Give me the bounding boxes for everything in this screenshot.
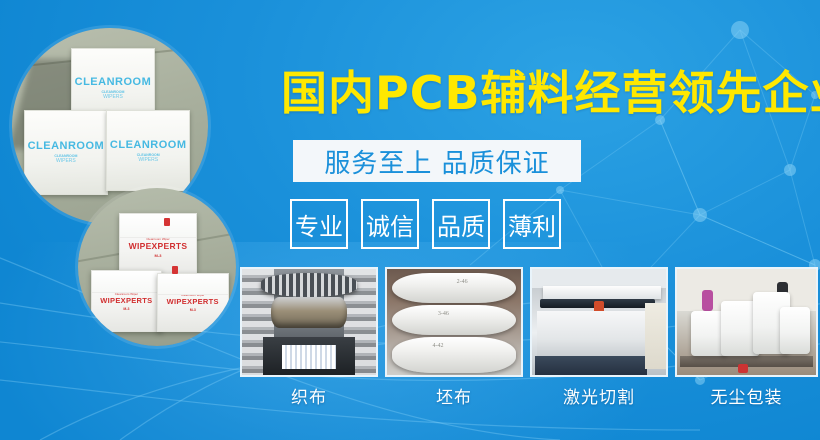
thumbnail-image-laser-cutter [530,267,668,377]
keyword-label: 品质 [437,207,485,242]
box-model-mark: M-3 [155,253,162,258]
cleanroom-pack: CLEANROOM CLEANROOM WIPERS [106,110,190,190]
thumbnail-caption: 织布 [291,383,327,408]
pack-title: CLEANROOM [110,139,187,151]
thumbnail-caption: 坯布 [436,383,472,408]
keyword-badge-zhuanye[interactable]: 专业 [290,199,348,249]
banner-headline: 国内PCB辅料经营领先企业 [281,70,820,116]
box-model-mark: M-3 [123,307,129,311]
thumbnail-image-knitting-machine [240,267,378,377]
box-brand-title: WIPEXPERTS [167,297,219,306]
product-photo-wipexperts-boxes: Cleanroom Wiper WIPEXPERTS M-3 Cleanroom… [78,188,236,346]
cleanroom-pack: CLEANROOM CLEANROOM WIPERS [24,110,108,194]
keyword-label: 专业 [295,207,343,242]
keyword-badge-baoli[interactable]: 薄利 [503,199,561,249]
pack-wipers-label: WIPERS [103,94,123,100]
pack-title: CLEANROOM [28,140,105,152]
process-thumbnail-strip: 织布 2-46 3-46 4-42 坯布 激光切割 [240,267,820,412]
box-ribbon [120,214,196,238]
thumbnail-caption: 无尘包装 [711,383,783,408]
box-ribbon [158,274,228,294]
keyword-badge-row: 专业 诚信 品质 薄利 [290,199,561,249]
thumbnail-item-greige-fabric[interactable]: 2-46 3-46 4-42 坯布 [385,267,523,412]
thumbnail-image-fabric-rolls: 2-46 3-46 4-42 [385,267,523,377]
banner-subtitle: 服务至上 品质保证 [324,143,549,180]
red-stamp-icon [172,266,178,274]
thumbnail-item-cleanroom-packaging[interactable]: 无尘包装 [675,267,818,412]
keyword-badge-chengxin[interactable]: 诚信 [361,199,419,249]
promotional-banner: CLEANROOM CLEANROOM WIPERS CLEANROOM CLE… [0,0,820,440]
wipexperts-box: Cleanroom Wiper WIPEXPERTS M-3 [157,273,229,332]
pack-wipers-label: WIPERS [138,157,158,163]
wipexperts-box: Cleanroom Wiper WIPEXPERTS M-3 [91,270,163,332]
keyword-label: 薄利 [508,207,556,242]
box-brand-title: WIPEXPERTS [100,296,152,305]
box-brand-title: WIPEXPERTS [129,241,188,251]
pack-wipers-label: WIPERS [56,158,76,164]
keyword-badge-pinzhi[interactable]: 品质 [432,199,490,249]
pack-title: CLEANROOM [75,76,152,88]
box-model-mark: M-3 [190,308,196,312]
thumbnail-caption: 激光切割 [563,383,635,408]
red-stamp-icon [164,218,170,226]
banner-subtitle-bar: 服务至上 品质保证 [293,140,581,182]
keyword-label: 诚信 [366,207,414,242]
thumbnail-image-packaging-area [675,267,818,377]
box-ribbon [92,271,162,292]
thumbnail-item-weaving[interactable]: 织布 [240,267,378,412]
thumbnail-item-laser-cutting[interactable]: 激光切割 [530,267,668,412]
